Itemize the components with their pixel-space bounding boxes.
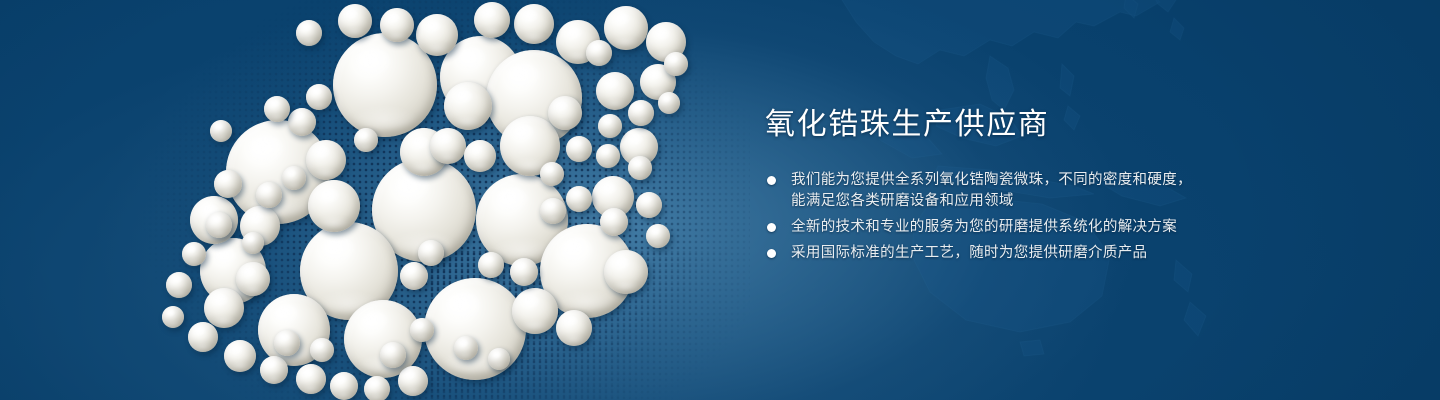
hero-banner: 氧化锆珠生产供应商 我们能为您提供全系列氧化锆陶瓷微珠，不同的密度和硬度， 能满… (0, 0, 1440, 400)
bullet-dot-icon (767, 249, 776, 258)
bullet-dot-icon (767, 176, 776, 185)
banner-bullet-list: 我们能为您提供全系列氧化锆陶瓷微珠，不同的密度和硬度， 能满足您各类研磨设备和应… (765, 170, 1405, 269)
banner-copy: 氧化锆珠生产供应商 我们能为您提供全系列氧化锆陶瓷微珠，不同的密度和硬度， 能满… (765, 0, 1405, 400)
bullet-line: 采用国际标准的生产工艺，随时为您提供研磨介质产品 (791, 243, 1405, 264)
bullet-dot-icon (767, 223, 776, 232)
bullet-line: 能满足您各类研磨设备和应用领域 (791, 191, 1405, 212)
bullet-line: 我们能为您提供全系列氧化锆陶瓷微珠，不同的密度和硬度， (791, 170, 1405, 191)
list-item: 采用国际标准的生产工艺，随时为您提供研磨介质产品 (765, 243, 1405, 264)
banner-headline: 氧化锆珠生产供应商 (765, 110, 1049, 140)
list-item: 我们能为您提供全系列氧化锆陶瓷微珠，不同的密度和硬度， 能满足您各类研磨设备和应… (765, 170, 1405, 212)
bullet-line: 全新的技术和专业的服务为您的研磨提供系统化的解决方案 (791, 217, 1405, 238)
list-item: 全新的技术和专业的服务为您的研磨提供系统化的解决方案 (765, 217, 1405, 238)
